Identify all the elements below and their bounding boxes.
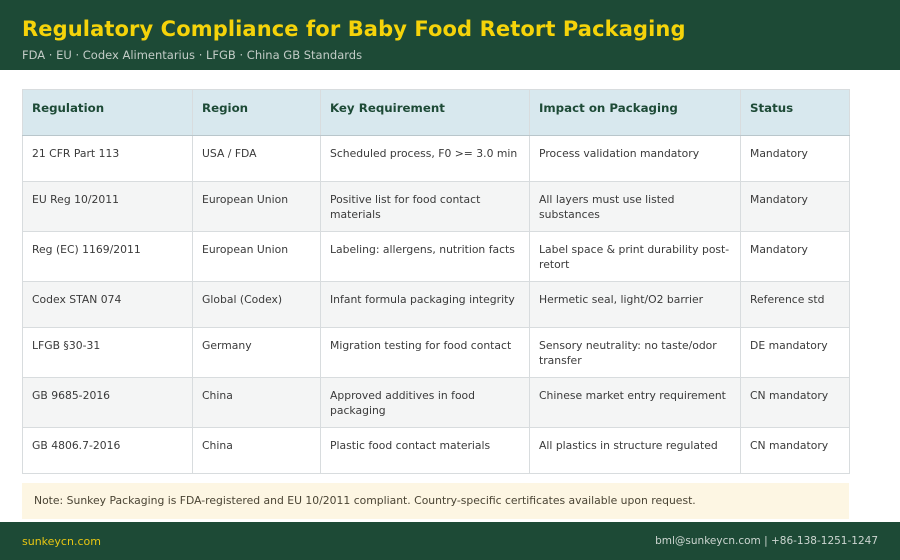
page-subtitle: FDA · EU · Codex Alimentarius · LFGB · C…: [22, 42, 878, 62]
cell-region: China: [193, 378, 321, 428]
cell-impact: Chinese market entry requirement: [530, 378, 741, 428]
column-header-status: Status: [741, 90, 850, 136]
page-title: Regulatory Compliance for Baby Food Reto…: [22, 10, 878, 42]
column-header-regulation: Regulation: [23, 90, 193, 136]
cell-impact: Process validation mandatory: [530, 136, 741, 182]
table-header-row: Regulation Region Key Requirement Impact…: [23, 90, 850, 136]
table-row: GB 4806.7-2016 China Plastic food contac…: [23, 428, 850, 474]
table-row: EU Reg 10/2011 European Union Positive l…: [23, 182, 850, 232]
cell-key-requirement: Scheduled process, F0 >= 3.0 min: [321, 136, 530, 182]
table-row: Codex STAN 074 Global (Codex) Infant for…: [23, 282, 850, 328]
cell-regulation: GB 4806.7-2016: [23, 428, 193, 474]
main-content: Regulation Region Key Requirement Impact…: [0, 70, 900, 522]
table-row: 21 CFR Part 113 USA / FDA Scheduled proc…: [23, 136, 850, 182]
column-header-region: Region: [193, 90, 321, 136]
note-bar: Note: Sunkey Packaging is FDA-registered…: [22, 483, 849, 519]
cell-region: European Union: [193, 182, 321, 232]
cell-regulation: GB 9685-2016: [23, 378, 193, 428]
cell-impact: Hermetic seal, light/O2 barrier: [530, 282, 741, 328]
cell-regulation: LFGB §30-31: [23, 328, 193, 378]
status-badge: DE mandatory: [741, 328, 850, 378]
cell-impact: Label space & print durability post-reto…: [530, 232, 741, 282]
regulatory-compliance-table: Regulation Region Key Requirement Impact…: [22, 89, 850, 474]
cell-key-requirement: Positive list for food contact materials: [321, 182, 530, 232]
cell-region: Global (Codex): [193, 282, 321, 328]
table-row: GB 9685-2016 China Approved additives in…: [23, 378, 850, 428]
footer-website-link[interactable]: sunkeycn.com: [22, 535, 101, 548]
page-header: Regulatory Compliance for Baby Food Reto…: [0, 0, 900, 70]
cell-regulation: Codex STAN 074: [23, 282, 193, 328]
status-badge: Mandatory: [741, 136, 850, 182]
status-badge: CN mandatory: [741, 428, 850, 474]
cell-key-requirement: Labeling: allergens, nutrition facts: [321, 232, 530, 282]
cell-impact: All layers must use listed substances: [530, 182, 741, 232]
slide-page: Regulatory Compliance for Baby Food Reto…: [0, 0, 900, 560]
table-row: Reg (EC) 1169/2011 European Union Labeli…: [23, 232, 850, 282]
cell-impact: Sensory neutrality: no taste/odor transf…: [530, 328, 741, 378]
cell-key-requirement: Approved additives in food packaging: [321, 378, 530, 428]
cell-key-requirement: Migration testing for food contact: [321, 328, 530, 378]
cell-regulation: Reg (EC) 1169/2011: [23, 232, 193, 282]
table-body: 21 CFR Part 113 USA / FDA Scheduled proc…: [23, 136, 850, 474]
cell-key-requirement: Infant formula packaging integrity: [321, 282, 530, 328]
column-header-key-requirement: Key Requirement: [321, 90, 530, 136]
status-badge: Mandatory: [741, 182, 850, 232]
table-row: LFGB §30-31 Germany Migration testing fo…: [23, 328, 850, 378]
page-footer: sunkeycn.com bml@sunkeycn.com | +86-138-…: [0, 522, 900, 560]
column-header-impact-on-packaging: Impact on Packaging: [530, 90, 741, 136]
cell-regulation: EU Reg 10/2011: [23, 182, 193, 232]
cell-key-requirement: Plastic food contact materials: [321, 428, 530, 474]
table-header: Regulation Region Key Requirement Impact…: [23, 90, 850, 136]
cell-impact: All plastics in structure regulated: [530, 428, 741, 474]
status-badge: Reference std: [741, 282, 850, 328]
cell-region: China: [193, 428, 321, 474]
cell-region: European Union: [193, 232, 321, 282]
cell-region: Germany: [193, 328, 321, 378]
status-badge: Mandatory: [741, 232, 850, 282]
cell-regulation: 21 CFR Part 113: [23, 136, 193, 182]
status-badge: CN mandatory: [741, 378, 850, 428]
cell-region: USA / FDA: [193, 136, 321, 182]
footer-contact-info[interactable]: bml@sunkeycn.com | +86-138-1251-1247: [655, 535, 878, 547]
